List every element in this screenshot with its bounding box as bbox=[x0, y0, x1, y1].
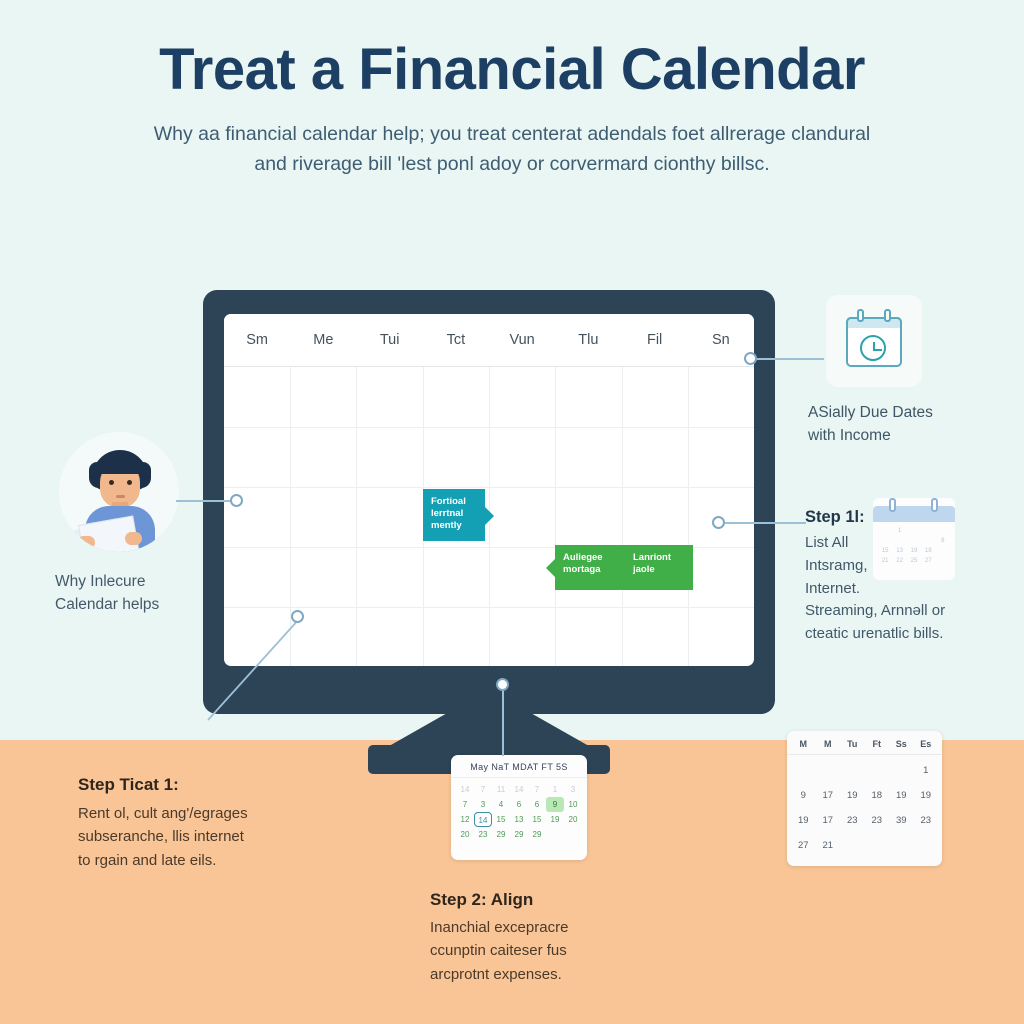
subtitle-line-2: and riverage bill 'lest ponl adoy or cor… bbox=[82, 149, 942, 179]
avatar-eye-right bbox=[127, 480, 132, 485]
bottom-left-step-body: Rent ol, cult ang'/egrages subseranche, … bbox=[78, 802, 338, 872]
calendar-ring-icon bbox=[884, 309, 891, 322]
avatar-eye-left bbox=[109, 480, 114, 485]
mini-calendar-ring-icon bbox=[931, 498, 938, 512]
connector-line-right-step bbox=[718, 522, 806, 524]
bottom-right-calendar[interactable]: MMTuFtSsEs 1917191819191917232339232721 bbox=[787, 731, 942, 866]
mini-calendar-cell: 25 bbox=[907, 556, 921, 566]
calendar-ring-icon bbox=[857, 309, 864, 322]
mini-calendar-cell: 27 bbox=[921, 556, 935, 566]
day-header-5: Tlu bbox=[555, 332, 621, 348]
grid-hline bbox=[224, 487, 754, 488]
bottom-center-step-heading: Step 2: Align bbox=[430, 890, 680, 910]
bottom-center-calendar-cell[interactable]: 14 bbox=[456, 782, 474, 797]
grid-vline bbox=[688, 367, 689, 666]
bottom-right-calendar-cell[interactable] bbox=[791, 758, 816, 783]
bottom-right-day-header: Es bbox=[914, 739, 939, 749]
connector-node-right-top[interactable] bbox=[744, 352, 757, 365]
day-header-0: Sm bbox=[224, 332, 290, 348]
bottom-center-calendar-cell[interactable] bbox=[546, 827, 564, 842]
bottom-left-line-3: to rgain and late eils. bbox=[78, 849, 338, 872]
calendar-header-icon bbox=[846, 317, 902, 328]
mini-calendar-cell bbox=[921, 536, 935, 546]
avatar bbox=[59, 432, 179, 552]
mini-calendar-cell: 15 bbox=[878, 546, 892, 556]
calendar-event-green-2[interactable]: Lanriont jaole bbox=[625, 545, 693, 590]
mini-calendar-cell bbox=[892, 536, 906, 546]
bottom-left-line-2: subseranche, llis internet bbox=[78, 825, 338, 848]
bottom-center-line-2: ccunptin caiteser fus bbox=[430, 939, 680, 962]
infographic-canvas: Treat a Financial Calendar Why aa financ… bbox=[0, 0, 1024, 1024]
mini-calendar-cell: 1 bbox=[892, 526, 906, 536]
avatar-fringe bbox=[98, 458, 142, 474]
connector-line-bottom-center bbox=[502, 684, 504, 756]
bottom-center-line-3: arcprotnt expenses. bbox=[430, 963, 680, 986]
grid-hline bbox=[224, 427, 754, 428]
connector-node-bottom-left[interactable] bbox=[291, 610, 304, 623]
bottom-center-calendar-cell[interactable]: 23 bbox=[474, 827, 492, 842]
bottom-right-calendar-cell[interactable]: 18 bbox=[865, 783, 890, 808]
bottom-center-step: Step 2: Align Inanchial excepracre ccunp… bbox=[430, 890, 680, 986]
right-step-line-4: Streaming, Arnnəll or bbox=[805, 600, 1020, 623]
bottom-center-calendar-cell[interactable]: 29 bbox=[492, 827, 510, 842]
grid-vline bbox=[622, 367, 623, 666]
bottom-right-calendar-cell[interactable]: 17 bbox=[816, 808, 841, 833]
right-top-callout-label: ASially Due Dates with Income bbox=[808, 401, 1008, 448]
mini-calendar-cell: 19 bbox=[907, 546, 921, 556]
left-callout: Why Inlecure Calendar helps bbox=[55, 432, 230, 617]
bottom-right-day-header: Tu bbox=[840, 739, 865, 749]
connector-node-right-step[interactable] bbox=[712, 516, 725, 529]
page-subtitle: Why aa financial calendar help; you trea… bbox=[82, 119, 942, 179]
bottom-center-calendar-cell[interactable] bbox=[564, 827, 582, 842]
avatar-mouth bbox=[116, 495, 125, 498]
bottom-center-calendar-cell[interactable]: 7 bbox=[528, 782, 546, 797]
mini-calendar-cell bbox=[921, 526, 935, 536]
bottom-right-calendar-cell[interactable]: 21 bbox=[816, 833, 841, 858]
bottom-center-calendar-grid[interactable]: 1471114713734669101214151315192020232929… bbox=[451, 778, 587, 846]
calendar-event-green-1[interactable]: Auliegee mortaga bbox=[555, 545, 625, 590]
bottom-center-calendar-cell[interactable]: 29 bbox=[510, 827, 528, 842]
day-header-1: Me bbox=[290, 332, 356, 348]
bottom-center-calendar-header: May NaT MDAT FT 5S bbox=[451, 755, 587, 778]
day-header-6: Fil bbox=[622, 332, 688, 348]
bottom-right-calendar-cell[interactable] bbox=[840, 758, 865, 783]
bottom-right-calendar-cell[interactable] bbox=[840, 833, 865, 858]
right-top-line-1: ASially Due Dates bbox=[808, 401, 1008, 424]
bottom-right-calendar-grid[interactable]: 1917191819191917232339232721 bbox=[787, 755, 942, 861]
bottom-center-calendar-cell[interactable]: 4 bbox=[492, 797, 510, 812]
bottom-right-day-header: Ft bbox=[865, 739, 890, 749]
bottom-right-calendar-cell[interactable]: 19 bbox=[914, 783, 939, 808]
right-step-callout: 181513191821222527 Step 1l: List All Int… bbox=[805, 508, 1020, 646]
bottom-center-calendar-cell[interactable]: 15 bbox=[528, 812, 546, 827]
bottom-center-calendar-cell[interactable]: 15 bbox=[492, 812, 510, 827]
bottom-center-calendar-cell[interactable]: 13 bbox=[510, 812, 528, 827]
mini-calendar-cell bbox=[878, 536, 892, 546]
bottom-right-calendar-header: MMTuFtSsEs bbox=[787, 731, 942, 755]
right-step-line-5: cteatic urenatlic bills. bbox=[805, 623, 1020, 646]
mini-calendar-cell: 18 bbox=[921, 546, 935, 556]
right-step-line-3: Internet. bbox=[805, 578, 1020, 601]
bottom-right-day-header: Ss bbox=[889, 739, 914, 749]
grid-vline bbox=[555, 367, 556, 666]
bottom-right-calendar-cell[interactable]: 23 bbox=[865, 808, 890, 833]
bottom-left-step-heading: Step Ticat 1: bbox=[78, 775, 338, 795]
bottom-center-calendar-cell[interactable]: 10 bbox=[564, 797, 582, 812]
bottom-right-calendar-cell[interactable] bbox=[865, 758, 890, 783]
bottom-right-calendar-cell[interactable] bbox=[914, 833, 939, 858]
day-header-4: Vun bbox=[489, 332, 555, 348]
avatar-hand-left bbox=[77, 536, 95, 549]
bottom-center-calendar-cell[interactable]: 6 bbox=[510, 797, 528, 812]
grid-vline bbox=[356, 367, 357, 666]
mini-calendar-header-icon bbox=[873, 506, 955, 522]
avatar-hand-right bbox=[125, 532, 142, 545]
mini-calendar-cell bbox=[907, 526, 921, 536]
bottom-right-calendar-cell[interactable]: 19 bbox=[889, 783, 914, 808]
bottom-left-line-1: Rent ol, cult ang'/egrages bbox=[78, 802, 338, 825]
calendar-event-teal[interactable]: Fortioal lerrtnal mently bbox=[423, 489, 485, 541]
right-top-line-2: with Income bbox=[808, 424, 1008, 447]
bottom-right-calendar-cell[interactable] bbox=[889, 833, 914, 858]
bottom-center-calendar-cell[interactable]: 3 bbox=[474, 797, 492, 812]
page-title: Treat a Financial Calendar bbox=[0, 40, 1024, 101]
bottom-center-calendar-cell[interactable]: 12 bbox=[456, 812, 474, 827]
bottom-right-calendar-cell[interactable]: 19 bbox=[791, 808, 816, 833]
mini-calendar-cell bbox=[878, 526, 892, 536]
bottom-center-calendar-cell[interactable]: 29 bbox=[528, 827, 546, 842]
bottom-right-calendar-cell[interactable]: 27 bbox=[791, 833, 816, 858]
mini-calendar-cell: 21 bbox=[878, 556, 892, 566]
subtitle-line-1: Why aa financial calendar help; you trea… bbox=[154, 123, 871, 145]
bottom-left-step: Step Ticat 1: Rent ol, cult ang'/egrages… bbox=[78, 775, 338, 872]
bottom-center-calendar-cell[interactable]: 7 bbox=[474, 782, 492, 797]
bottom-right-calendar-cell[interactable]: 23 bbox=[840, 808, 865, 833]
day-header-7: Sn bbox=[688, 332, 754, 348]
mini-calendar-cell: 13 bbox=[892, 546, 906, 556]
connector-node-bottom-center[interactable] bbox=[496, 678, 509, 691]
mini-calendar-icon: 181513191821222527 bbox=[873, 498, 955, 580]
connector-node-left[interactable] bbox=[230, 494, 243, 507]
bottom-center-step-body: Inanchial excepracre ccunptin caiteser f… bbox=[430, 916, 680, 986]
bottom-right-calendar-cell[interactable]: 19 bbox=[840, 783, 865, 808]
calendar-day-header-row: Sm Me Tui Tct Vun Tlu Fil Sn bbox=[224, 314, 754, 367]
calendar-clock-icon bbox=[826, 295, 922, 387]
mini-calendar-ring-icon bbox=[889, 498, 896, 512]
bottom-right-calendar-cell[interactable]: 39 bbox=[889, 808, 914, 833]
mini-calendar-cell: 8 bbox=[936, 536, 950, 546]
bottom-center-calendar-cell[interactable]: 3 bbox=[564, 782, 582, 797]
mini-calendar-cell bbox=[936, 556, 950, 566]
right-top-callout: ASially Due Dates with Income bbox=[808, 295, 1008, 448]
bottom-right-calendar-cell[interactable]: 17 bbox=[816, 783, 841, 808]
mini-calendar-number-grid: 181513191821222527 bbox=[878, 526, 950, 566]
mini-calendar-cell bbox=[907, 536, 921, 546]
bottom-center-calendar-cell[interactable]: 1 bbox=[546, 782, 564, 797]
connector-line-left bbox=[176, 500, 236, 502]
bottom-right-day-header: M bbox=[816, 739, 841, 749]
bottom-center-calendar-cell[interactable]: 20 bbox=[564, 812, 582, 827]
mini-calendar-cell: 22 bbox=[892, 556, 906, 566]
bottom-center-calendar-cell[interactable]: 14 bbox=[474, 812, 492, 827]
clock-icon bbox=[860, 335, 886, 361]
bottom-center-calendar-cell[interactable]: 19 bbox=[546, 812, 564, 827]
bottom-center-calendar-cell[interactable]: 6 bbox=[528, 797, 546, 812]
day-header-3: Tct bbox=[423, 332, 489, 348]
bottom-center-calendar-cell[interactable]: 20 bbox=[456, 827, 474, 842]
mini-calendar-cell bbox=[936, 546, 950, 556]
bottom-right-day-header: M bbox=[791, 739, 816, 749]
bottom-right-calendar-cell[interactable]: 23 bbox=[914, 808, 939, 833]
bottom-right-calendar-cell[interactable] bbox=[816, 758, 841, 783]
bottom-center-calendar-cell[interactable]: 14 bbox=[510, 782, 528, 797]
bottom-right-calendar-cell[interactable]: 9 bbox=[791, 783, 816, 808]
bottom-center-line-1: Inanchial excepracre bbox=[430, 916, 680, 939]
mini-calendar-cell bbox=[936, 526, 950, 536]
bottom-right-calendar-cell[interactable] bbox=[865, 833, 890, 858]
bottom-right-calendar-cell[interactable] bbox=[889, 758, 914, 783]
left-callout-line-1: Why Inlecure bbox=[55, 570, 230, 593]
bottom-right-calendar-cell[interactable]: 1 bbox=[914, 758, 939, 783]
bottom-center-calendar-cell[interactable]: 9 bbox=[546, 797, 564, 812]
bottom-center-calendar[interactable]: May NaT MDAT FT 5S 147111471373466910121… bbox=[451, 755, 587, 860]
day-header-2: Tui bbox=[357, 332, 423, 348]
bottom-center-calendar-cell[interactable]: 11 bbox=[492, 782, 510, 797]
header: Treat a Financial Calendar Why aa financ… bbox=[0, 40, 1024, 179]
bottom-center-calendar-cell[interactable]: 7 bbox=[456, 797, 474, 812]
